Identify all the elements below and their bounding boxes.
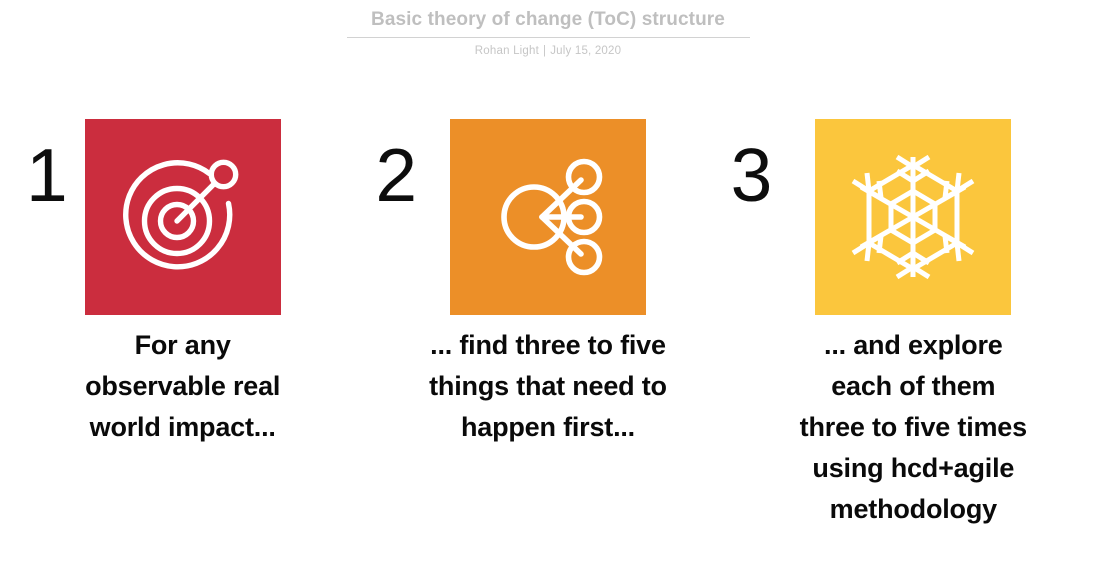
panel-2-graphic-area: 2 [365, 104, 730, 315]
panel-3-caption: ... and explore each of them three to fi… [797, 325, 1029, 530]
panel-step-1: 1 [0, 104, 365, 448]
byline-separator: | [539, 45, 550, 57]
panel-3-graphic-area: 3 [731, 104, 1096, 315]
panel-1-caption: For any observable real world impact... [67, 325, 299, 448]
target-icon [117, 151, 249, 283]
snowflake-icon [849, 151, 977, 283]
panel-step-2: 2 [365, 104, 730, 448]
header-divider [347, 37, 750, 38]
panel-2-number: 2 [375, 138, 416, 213]
panel-3-number: 3 [731, 138, 772, 213]
network-nodes-icon [482, 151, 614, 283]
slide-header: Basic theory of change (ToC) structure R… [0, 0, 1096, 57]
panel-1-color-tile [85, 119, 281, 315]
panel-1-graphic-area: 1 [0, 104, 365, 315]
byline-author: Rohan Light [475, 45, 539, 57]
panel-step-3: 3 [731, 104, 1096, 530]
byline: Rohan Light|July 15, 2020 [0, 45, 1096, 57]
byline-date: July 15, 2020 [550, 45, 621, 57]
panel-3-color-tile [815, 119, 1011, 315]
panel-row: 1 [0, 104, 1096, 530]
page-title: Basic theory of change (ToC) structure [0, 0, 1096, 34]
panel-2-color-tile [450, 119, 646, 315]
panel-2-caption: ... find three to five things that need … [425, 325, 671, 448]
panel-1-number: 1 [26, 138, 67, 213]
